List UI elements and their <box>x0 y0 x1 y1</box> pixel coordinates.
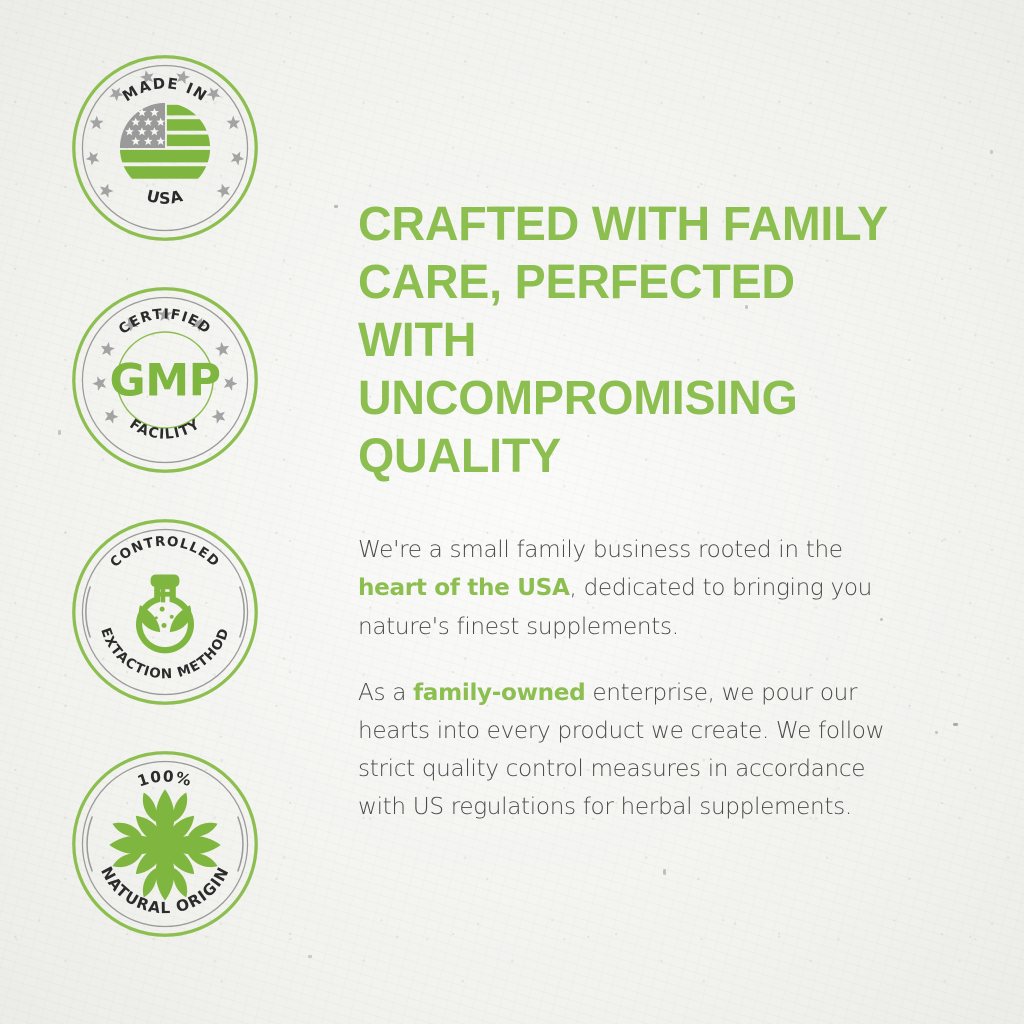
paragraph-2-part-1: As a <box>358 678 413 706</box>
flask-leaf-icon <box>139 575 191 651</box>
badge-bottom-label: USA <box>145 186 186 208</box>
usa-flag-circle-icon <box>120 103 211 179</box>
page-title: CRAFTED WITH FAMILY CARE, PERFECTED WITH… <box>358 196 897 486</box>
paragraph-1-highlight: heart of the USA <box>358 573 570 601</box>
heading-line-1: CRAFTED WITH FAMILY <box>358 198 888 251</box>
badge-made-in-usa: MADE IN USA <box>69 52 261 244</box>
infographic-page: MADE IN USA <box>0 0 1024 1024</box>
text-content-column: CRAFTED WITH FAMILY CARE, PERFECTED WITH… <box>330 0 1024 1024</box>
heading-line-2: CARE, PERFECTED WITH <box>358 256 795 367</box>
badge-natural-origin: 100% NATURAL ORIGIN <box>69 748 261 940</box>
paragraph-2: As a family-owned enterprise, we pour ou… <box>358 673 890 825</box>
badge-center-label: GMP <box>109 355 220 406</box>
badge-bottom-label: FACILITY <box>127 416 204 443</box>
heading-line-4: QUALITY <box>358 430 561 483</box>
certification-badge-column: MADE IN USA <box>0 0 330 1024</box>
badge-top-label: MADE IN <box>119 74 211 105</box>
badge-bottom-label: EXTACTION METHOD <box>97 626 233 683</box>
badge-top-label: 100% <box>135 767 194 790</box>
paragraph-1: We're a small family business rooted in … <box>358 530 890 644</box>
badge-gmp-certified-facility: GMP CERTIFIED FACILITY <box>69 284 261 476</box>
paragraph-1-part-1: We're a small family business rooted in … <box>358 535 843 563</box>
heading-line-3: UNCOMPROMISING <box>358 372 798 425</box>
badge-controlled-extraction-method: CONTROLLED EXTACTION METHOD <box>69 516 261 708</box>
body-copy: We're a small family business rooted in … <box>358 530 898 824</box>
paragraph-2-highlight: family-owned <box>413 678 585 706</box>
